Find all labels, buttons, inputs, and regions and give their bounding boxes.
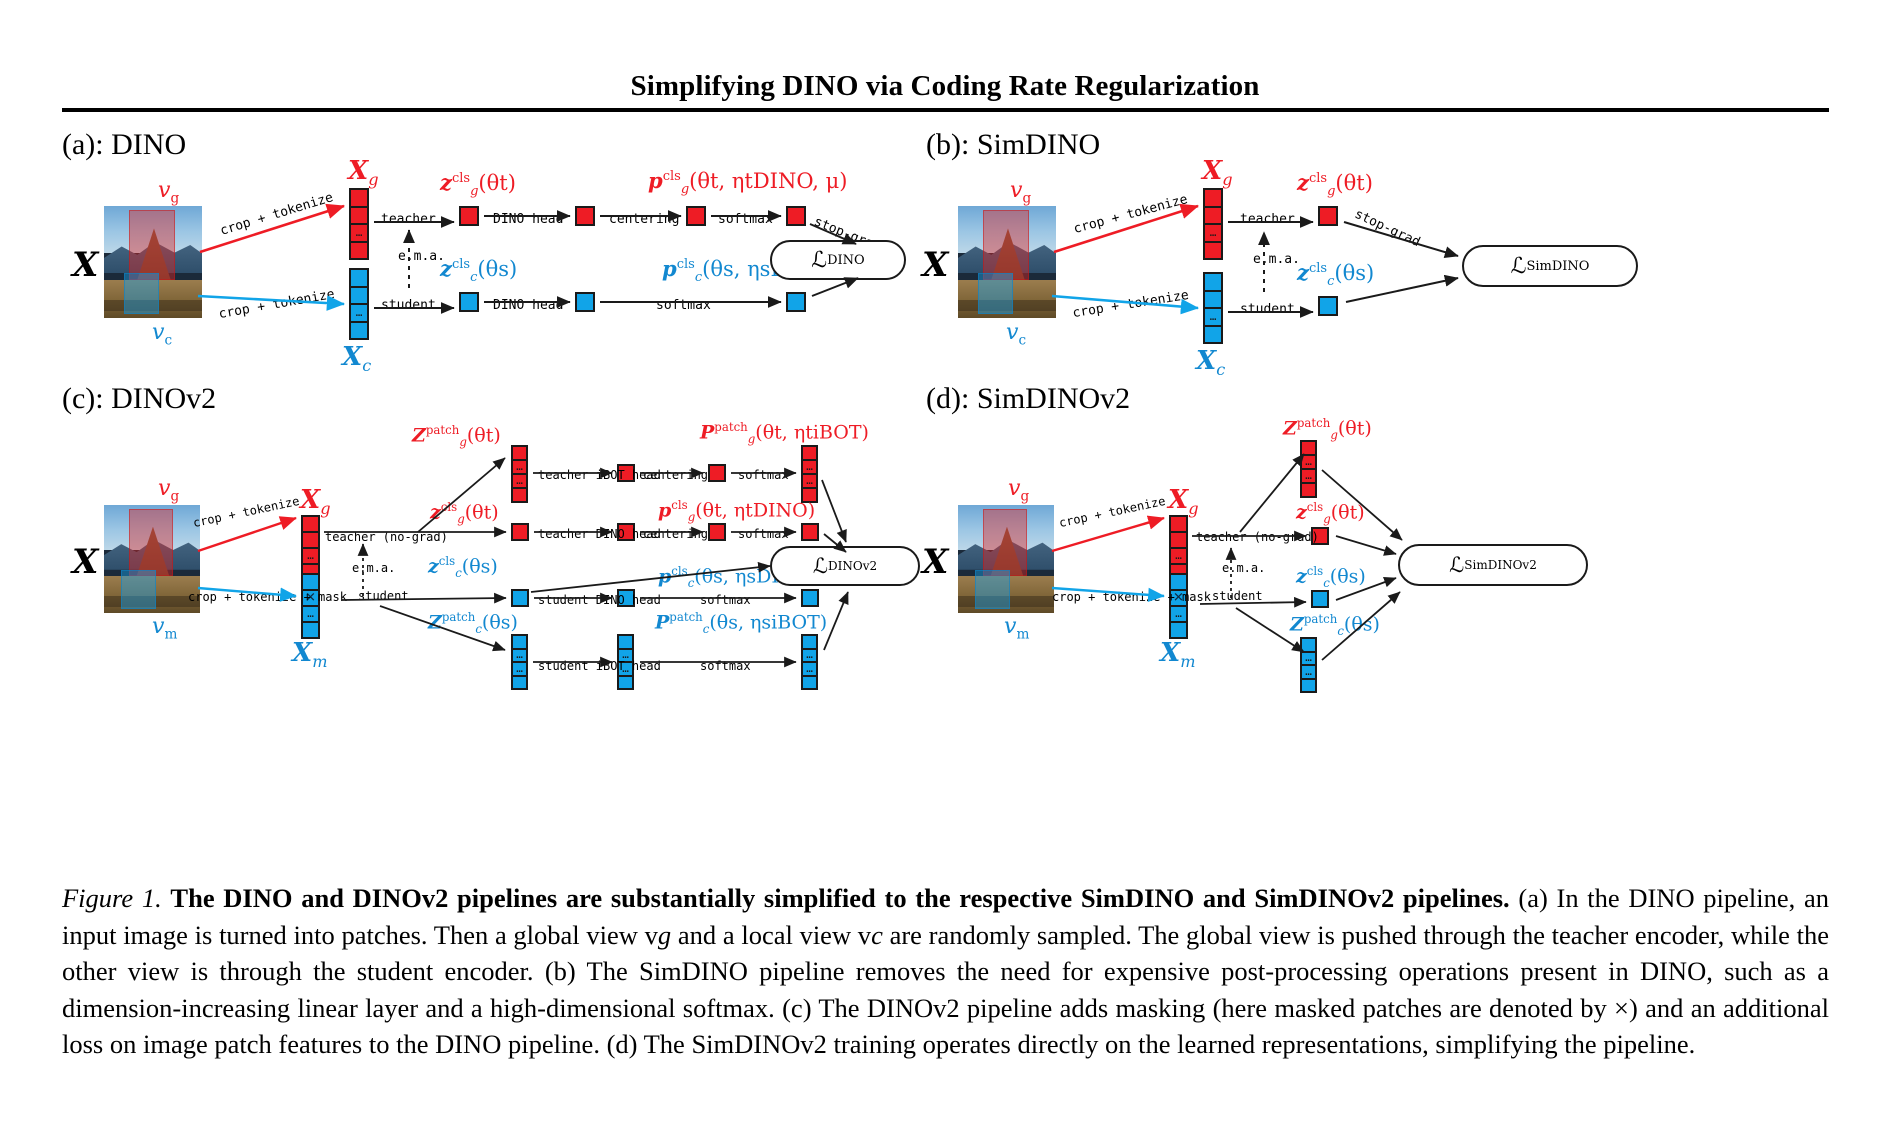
panel-b-student-z [1318, 296, 1338, 316]
panel-d-masked-token-stack [1169, 573, 1188, 639]
panel-b-global-token-stack [1203, 188, 1223, 260]
panel-a-local-token-stack [349, 268, 369, 340]
panel-c-input-image [104, 505, 200, 613]
panel-a-teacher-centered [686, 206, 706, 226]
panel-c-Z-student-patch-label: Zpatchc(θs) [428, 612, 518, 636]
panel-d-z-student-cls-label: zclsc(θs) [1296, 566, 1366, 590]
panel-d-title: (d): SimDINOv2 [926, 382, 1130, 416]
panel-a-student-head-out [575, 292, 595, 312]
caption-figure-label: Figure 1. [62, 883, 162, 913]
local-crop-overlay [978, 273, 1013, 313]
panel-a-edge-head-teacher: DINO head [493, 213, 563, 226]
masked-crop-overlay [121, 570, 156, 609]
panel-c-Z-teacher-patch-label: Zpatchg(θt) [412, 425, 501, 449]
panel-c-edge-softmax-1: softmax [738, 469, 789, 481]
panel-a-edge-teacher: teacher [381, 213, 436, 226]
panel-c-edge-teacher: teacher (no-grad) [325, 531, 448, 543]
panel-a-edge-crop-global: crop + tokenize [219, 191, 335, 238]
panel-a-student-z [459, 292, 479, 312]
panel-c-teacher-patch-prob-stack [801, 445, 818, 503]
panel-b-edge-student: student [1240, 303, 1295, 316]
panel-c-loss-node: ℒDINOv2 [770, 546, 920, 586]
panel-c-p-teacher-cls-label: pclsg(θt, ηtDINO) [658, 500, 815, 524]
panel-c-edge-softmax-2: softmax [738, 528, 789, 540]
panel-d-Z-teacher-patch-label: Zpatchg(θt) [1283, 418, 1372, 442]
panel-a-edge-ema: e.m.a. [398, 250, 445, 263]
caption-bold-lead: The DINO and DINOv2 pipelines are substa… [170, 883, 1509, 913]
panel-a-input-image [104, 206, 202, 318]
panel-d-edge-student: student [1212, 590, 1263, 602]
panel-d-edge-ema: e.m.a. [1222, 562, 1265, 574]
panel-b-input-image [958, 206, 1056, 318]
panel-d-student-cls-z [1311, 590, 1329, 608]
global-crop-overlay [129, 509, 173, 576]
global-crop-overlay [983, 509, 1027, 576]
panel-c-P-teacher-patch-label: Ppatchg(θt, ηtiBOT) [700, 422, 869, 446]
panel-d-student-patch-stack [1300, 637, 1317, 693]
panel-a-title: (a): DINO [62, 128, 186, 162]
panel-d-z-teacher-cls-label: zclsg(θt) [1296, 502, 1365, 526]
panel-b-Xg-label: Xg [1202, 158, 1233, 188]
panel-c-edge-student-dino-head: student DINO head [538, 594, 661, 606]
panel-b-z-student-label: zclsc(θs) [1297, 262, 1374, 288]
panel-d-input-image [958, 505, 1054, 613]
panel-a-edge-student: student [381, 299, 436, 312]
figure-page: Simplifying DINO via Coding Rate Regular… [0, 0, 1890, 1140]
caption-body-d: (d) The SimDINOv2 training operates dire… [607, 1029, 1696, 1059]
panel-a-vg-label: vg [158, 180, 179, 206]
panel-d-vg-label: vg [1008, 478, 1029, 504]
panel-b-input-label: X [922, 248, 948, 282]
panel-c-teacher-cls-p [801, 523, 819, 541]
panel-c-global-token-stack [301, 515, 320, 581]
panel-a-edge-softmax-teacher: softmax [718, 213, 773, 226]
panel-a-Xg-label: Xg [348, 158, 379, 188]
panel-d-edge-crop-global: crop + tokenize [1058, 495, 1167, 529]
panel-a-edge-crop-local: crop + tokenize [218, 288, 336, 321]
panel-b-edge-stopgrad: stop-grad [1353, 208, 1422, 250]
panel-a-edge-softmax-student: softmax [656, 299, 711, 312]
panel-b-Xc-label: Xc [1196, 348, 1225, 378]
panel-a-z-student-label: zclsc(θs) [440, 258, 517, 284]
panel-c-vm-label: vm [152, 616, 177, 642]
panel-c-student-cls-z [511, 589, 529, 607]
panel-b-vg-label: vg [1010, 180, 1031, 206]
panel-a-student-p [786, 292, 806, 312]
running-head: Simplifying DINO via Coding Rate Regular… [0, 70, 1890, 103]
panel-b-teacher-z [1318, 206, 1338, 226]
panel-c-edge-softmax-4: softmax [700, 660, 751, 672]
panel-b-title: (b): SimDINO [926, 128, 1100, 162]
figure-caption: Figure 1. The DINO and DINOv2 pipelines … [62, 880, 1829, 1063]
panel-a-Xc-label: Xc [342, 344, 371, 374]
panel-c-edge-ema: e.m.a. [352, 562, 395, 574]
panel-d-global-token-stack [1169, 515, 1188, 581]
panel-c-Xg-label: Xg [300, 487, 331, 517]
panel-a-vc-label: vc [152, 322, 172, 348]
panel-a-p-teacher-label: pclsg(θt, ηtDINO, μ) [648, 170, 848, 196]
panel-c-z-student-cls-label: zclsc(θs) [428, 556, 498, 580]
panel-d-loss-node: ℒSimDINOv2 [1398, 544, 1588, 586]
panel-c-student-patch-stack [511, 634, 528, 690]
panel-c-edge-student: student [358, 590, 409, 602]
panel-d-teacher-patch-stack [1300, 440, 1317, 498]
panel-d-input-label: X [922, 545, 948, 579]
panel-c-edge-centering-1: centering [643, 469, 708, 481]
panel-b-vc-label: vc [1006, 322, 1026, 348]
global-crop-overlay [129, 210, 174, 279]
panel-a-edge-centering: centering [609, 213, 679, 226]
panel-d-Xm-label: Xm [1160, 640, 1195, 670]
panel-b-z-teacher-label: zclsg(θt) [1297, 172, 1373, 198]
panel-d-Z-student-patch-label: Zpatchc(θs) [1290, 614, 1380, 638]
global-crop-overlay [983, 210, 1028, 279]
local-crop-overlay [124, 273, 159, 313]
panel-c-teacher-dino-centered [708, 523, 726, 541]
panel-a-z-teacher-label: zclsg(θt) [440, 172, 516, 198]
panel-a-global-token-stack [349, 188, 369, 260]
panel-c-vg-label: vg [158, 478, 179, 504]
panel-c-input-label: X [72, 545, 98, 579]
panel-c-edge-centering-2: centering [643, 528, 708, 540]
panel-b-edge-crop-global: crop + tokenize [1072, 193, 1189, 236]
panel-c-student-cls-p [801, 589, 819, 607]
panel-d-edge-crop-masked: crop + tokenize + mask [1052, 591, 1211, 603]
panel-a-teacher-p [786, 206, 806, 226]
panel-b-edge-ema: e.m.a. [1253, 253, 1300, 266]
panel-d-edge-teacher: teacher (no-grad) [1196, 531, 1319, 543]
panel-c-student-patch-prob-stack [801, 634, 818, 690]
panel-b-local-token-stack [1203, 272, 1223, 344]
panel-c-teacher-patch-stack [511, 445, 528, 503]
masked-crop-overlay [975, 570, 1010, 609]
header-rule [62, 108, 1829, 112]
panel-a-teacher-z [459, 206, 479, 226]
panel-c-Xm-label: Xm [292, 640, 327, 670]
panel-c-edge-crop-global: crop + tokenize [192, 495, 301, 529]
panel-c-P-student-patch-label: Ppatchc(θs, ηsiBOT) [655, 612, 827, 636]
panel-b-loss-node: ℒSimDINO [1462, 245, 1638, 287]
panel-c-masked-token-stack [301, 573, 320, 639]
panel-c-edge-softmax-3: softmax [700, 594, 751, 606]
panel-c-edge-crop-masked: crop + tokenize + mask [188, 591, 347, 603]
panel-c-teacher-ibot-centered [708, 464, 726, 482]
panel-d-vm-label: vm [1004, 616, 1029, 642]
panel-a-input-label: X [72, 248, 98, 282]
panel-a-edge-head-student: DINO head [493, 299, 563, 312]
panel-c-z-teacher-cls-label: zclsg(θt) [430, 502, 499, 526]
panel-a-teacher-head-out [575, 206, 595, 226]
panel-b-edge-teacher: teacher [1240, 213, 1295, 226]
panel-a-loss-node: ℒDINO [770, 240, 906, 280]
panel-c-title: (c): DINOv2 [62, 382, 216, 416]
panel-b-edge-crop-local: crop + tokenize [1072, 289, 1190, 320]
caption-body-a2: and a local view v [678, 920, 871, 950]
panel-c-edge-student-ibot-head: student iBOT head [538, 660, 661, 672]
panel-c-teacher-cls-z [511, 523, 529, 541]
panel-d-Xg-label: Xg [1168, 487, 1199, 517]
